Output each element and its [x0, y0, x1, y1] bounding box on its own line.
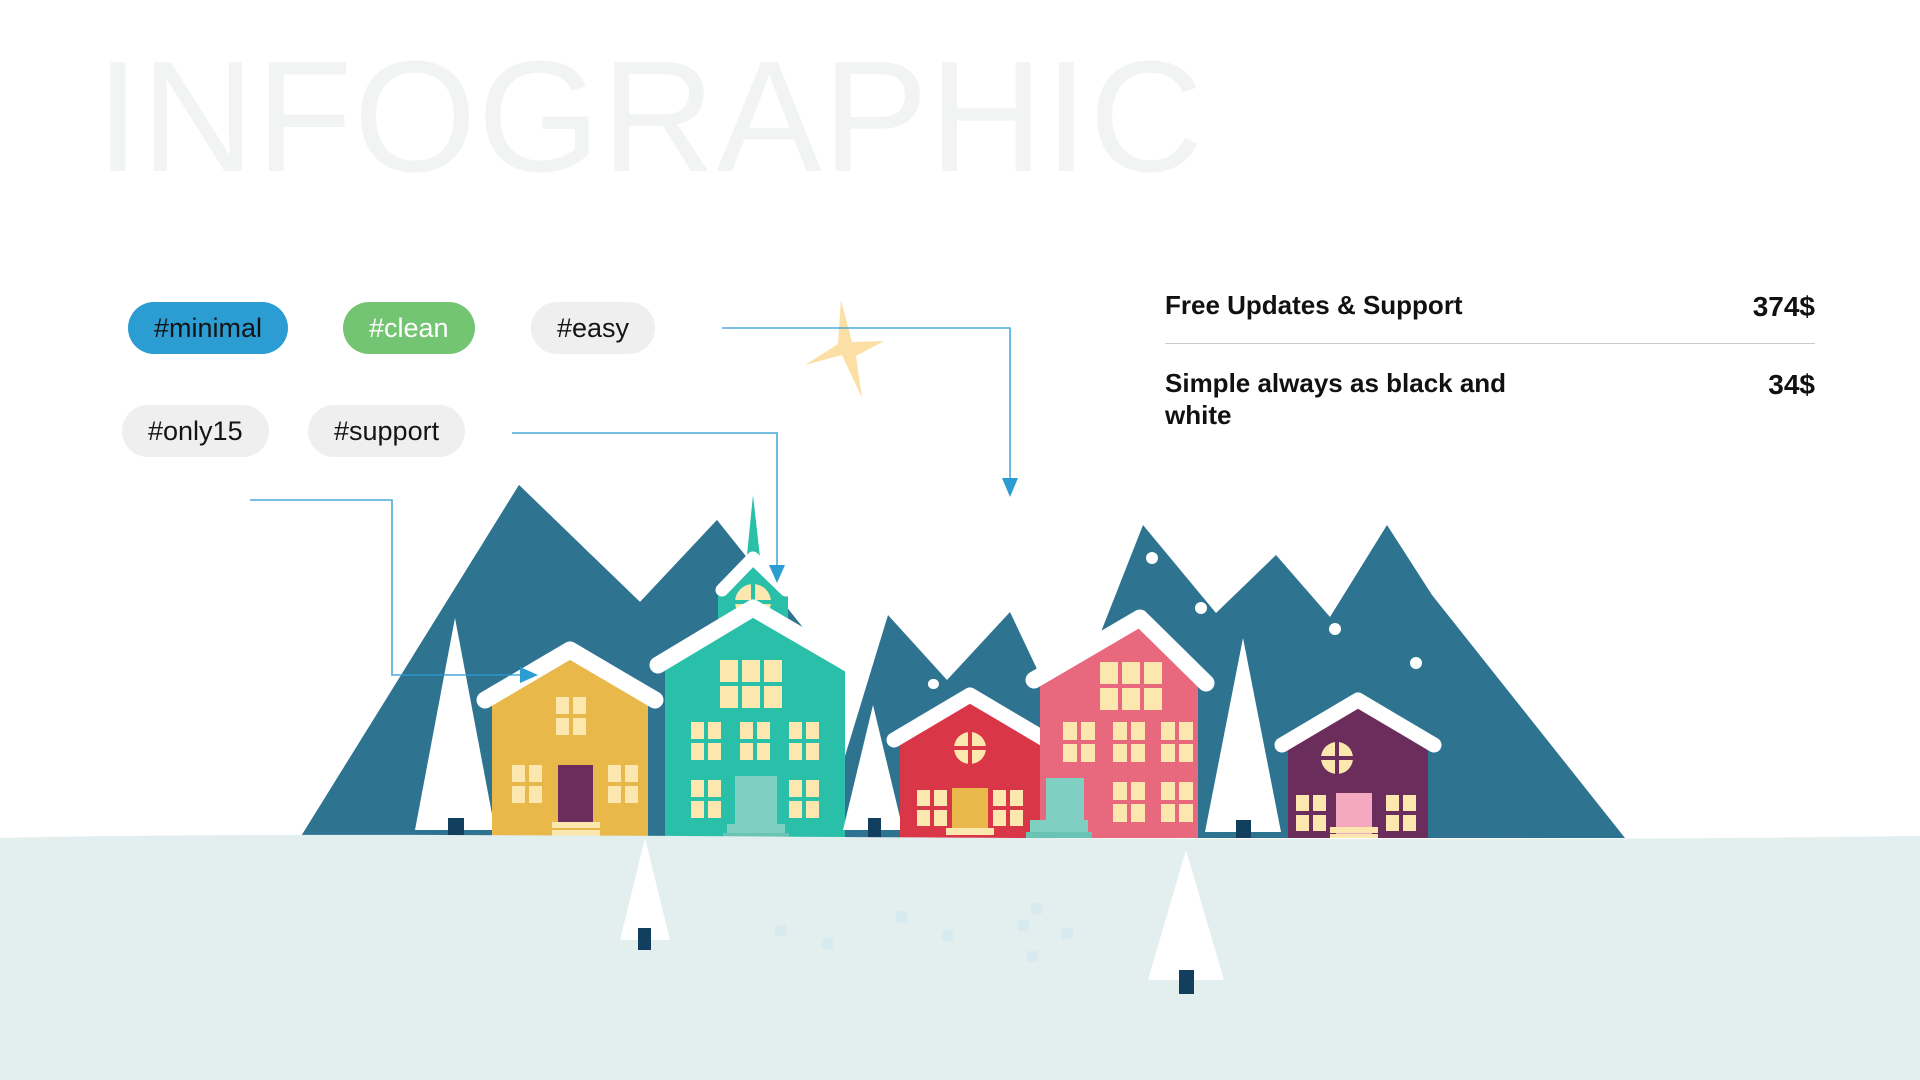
tag-pill-clean[interactable]: #clean — [343, 302, 475, 354]
price-row-amount: 374$ — [1753, 290, 1815, 323]
connector-easy — [722, 328, 1018, 497]
connector-support — [512, 433, 785, 583]
tag-pill-minimal[interactable]: #minimal — [128, 302, 288, 354]
price-list: Free Updates & Support 374$ Simple alway… — [1165, 290, 1815, 431]
price-list-row: Simple always as black and white 34$ — [1165, 344, 1815, 431]
price-row-amount: 34$ — [1768, 368, 1815, 401]
tag-pill-easy[interactable]: #easy — [531, 302, 655, 354]
connector-lines — [0, 0, 1920, 1080]
tag-pill-only15[interactable]: #only15 — [122, 405, 269, 457]
infographic-slide: INFOGRAPHIC — [0, 0, 1920, 1080]
price-row-label: Free Updates & Support — [1165, 290, 1463, 322]
price-row-label: Simple always as black and white — [1165, 368, 1565, 431]
tag-pill-support[interactable]: #support — [308, 405, 465, 457]
price-list-row: Free Updates & Support 374$ — [1165, 290, 1815, 343]
connector-only15 — [250, 500, 538, 683]
